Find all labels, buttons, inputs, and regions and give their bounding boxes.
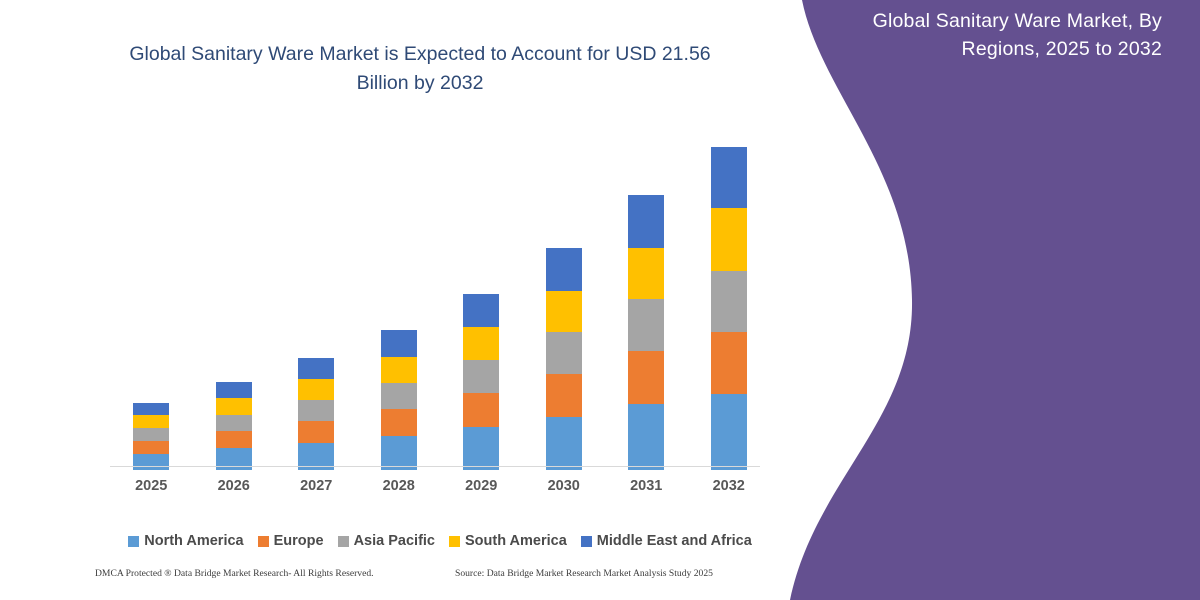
- panel-title: Global Sanitary Ware Market, By Regions,…: [790, 8, 1190, 63]
- chart-x-axis-labels: 20252026202720282029203020312032: [110, 476, 770, 500]
- chart-bar-segment: [298, 421, 334, 443]
- legend-item[interactable]: Asia Pacific: [338, 533, 435, 549]
- chart-bar: [628, 195, 664, 470]
- chart-bar-segment: [133, 441, 169, 454]
- legend-item[interactable]: North America: [128, 533, 243, 549]
- chart-bar-segment: [298, 358, 334, 379]
- chart-bar-segment: [546, 291, 582, 332]
- chart-bar: [216, 382, 252, 471]
- chart-bar-segment: [133, 428, 169, 441]
- chart-x-tick-label: 2026: [194, 478, 274, 494]
- chart-bar: [298, 358, 334, 470]
- legend-item[interactable]: Middle East and Africa: [581, 533, 752, 549]
- chart-bar-segment: [546, 417, 582, 470]
- chart-bar-segment: [711, 394, 747, 470]
- legend-swatch-icon: [338, 536, 349, 547]
- chart-plot-area: [110, 140, 770, 470]
- chart-bar-segment: [381, 383, 417, 409]
- panel-curve-shape: [760, 0, 960, 600]
- legend-swatch-icon: [128, 536, 139, 547]
- chart-x-tick-label: 2025: [111, 478, 191, 494]
- chart-bar-segment: [381, 409, 417, 436]
- legend-item[interactable]: South America: [449, 533, 567, 549]
- brand-panel: Global Sanitary Ware Market, By Regions,…: [760, 0, 1200, 600]
- chart-bar-segment: [133, 454, 169, 471]
- chart-bar-segment: [628, 351, 664, 404]
- chart-bar-segment: [463, 360, 499, 393]
- chart-bar-segment: [298, 400, 334, 421]
- footer-copyright: DMCA Protected ® Data Bridge Market Rese…: [95, 568, 374, 579]
- chart-bar-segment: [711, 208, 747, 271]
- legend-swatch-icon: [258, 536, 269, 547]
- chart-bar-segment: [381, 330, 417, 357]
- chart-bar: [463, 294, 499, 470]
- legend-swatch-icon: [449, 536, 460, 547]
- footer: DMCA Protected ® Data Bridge Market Rese…: [95, 568, 785, 588]
- legend-label: South America: [465, 533, 567, 549]
- chart-bar-segment: [216, 431, 252, 448]
- chart-x-axis-line: [110, 466, 770, 467]
- chart-bar: [381, 330, 417, 470]
- chart-bar-segment: [463, 327, 499, 360]
- chart-bar: [546, 248, 582, 470]
- chart-bar-segment: [463, 427, 499, 470]
- legend-item[interactable]: Europe: [258, 533, 324, 549]
- chart-bar-segment: [298, 379, 334, 400]
- chart-bar-segment: [628, 195, 664, 248]
- chart-bar: [711, 147, 747, 470]
- legend-label: North America: [144, 533, 243, 549]
- legend-label: Europe: [274, 533, 324, 549]
- chart-bar-segment: [628, 299, 664, 351]
- chart-bar-segment: [711, 147, 747, 209]
- chart-bar-segment: [628, 248, 664, 299]
- chart-bar-segment: [381, 357, 417, 383]
- chart-bar-segment: [711, 332, 747, 394]
- chart-legend: North AmericaEuropeAsia PacificSouth Ame…: [110, 530, 770, 552]
- chart-bar-segment: [216, 415, 252, 432]
- chart-bar-segment: [216, 398, 252, 415]
- chart-bar-segment: [628, 404, 664, 470]
- chart-bar: [133, 403, 169, 470]
- footer-source: Source: Data Bridge Market Research Mark…: [455, 568, 713, 579]
- legend-label: Middle East and Africa: [597, 533, 752, 549]
- chart-x-tick-label: 2030: [524, 478, 604, 494]
- chart-bar-segment: [711, 271, 747, 332]
- chart-bar-segment: [546, 332, 582, 374]
- chart-x-tick-label: 2032: [689, 478, 769, 494]
- chart-bar-segment: [133, 403, 169, 415]
- chart-bar-segment: [381, 436, 417, 470]
- chart-bar-segment: [546, 248, 582, 291]
- chart-x-tick-label: 2028: [359, 478, 439, 494]
- chart-bar-segment: [463, 294, 499, 328]
- chart-bar-segment: [463, 393, 499, 427]
- chart-bar-segment: [133, 415, 169, 428]
- chart-x-tick-label: 2029: [441, 478, 521, 494]
- chart-x-tick-label: 2027: [276, 478, 356, 494]
- chart-bar-segment: [216, 382, 252, 399]
- chart-bar-segment: [546, 374, 582, 417]
- chart-x-tick-label: 2031: [606, 478, 686, 494]
- legend-label: Asia Pacific: [354, 533, 435, 549]
- page-title: Global Sanitary Ware Market is Expected …: [120, 40, 720, 99]
- legend-swatch-icon: [581, 536, 592, 547]
